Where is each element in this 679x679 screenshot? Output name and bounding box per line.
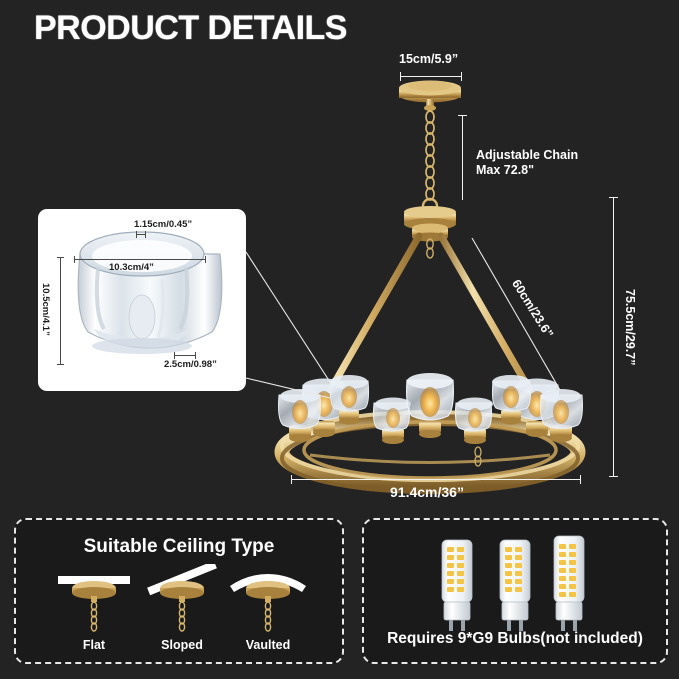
ceiling-panel-heading: Suitable Ceiling Type — [16, 536, 342, 558]
g9-bulb-1 — [442, 540, 472, 631]
inset-dim-base-label: 2.5cm/0.98” — [164, 359, 217, 370]
flat-ceiling-icon — [46, 564, 142, 634]
dim-ring-diameter-line — [291, 479, 581, 480]
product-details-infographic: PRODUCT DETAILS — [0, 0, 679, 679]
suitable-ceiling-type-panel: Suitable Ceiling Type Flat — [14, 518, 344, 664]
required-bulbs-panel: Requires 9*G9 Bulbs(not included) — [362, 518, 668, 664]
g9-bulb-2 — [500, 540, 530, 631]
bulbs-panel-caption: Requires 9*G9 Bulbs(not included) — [364, 630, 666, 648]
suspension-chain — [426, 111, 434, 200]
dim-chain-label-line2: Max 72.8" — [476, 163, 578, 178]
center-finial — [475, 447, 481, 466]
inset-dim-height-line — [60, 257, 61, 365]
dim-chain-label-line1: Adjustable Chain — [476, 148, 578, 163]
inset-dim-width-label: 10.3cm/4” — [109, 262, 154, 273]
inset-dim-top-opening-line — [136, 234, 146, 235]
light-shade-back-center-left — [373, 398, 411, 445]
dim-total-height-label: 75.5cm/29.7” — [622, 289, 637, 365]
dim-chain-line — [462, 115, 463, 200]
upper-hub — [404, 199, 456, 242]
ceiling-type-sloped[interactable]: Sloped — [134, 564, 230, 652]
inset-dim-height-label: 10.5cm/4.1” — [40, 283, 51, 336]
g9-bulbs-illustration — [364, 532, 666, 640]
ceiling-canopy — [399, 81, 461, 112]
ceiling-type-vaulted[interactable]: Vaulted — [220, 564, 316, 652]
light-shade-center — [407, 373, 454, 438]
dim-chain-label: Adjustable Chain Max 72.8" — [476, 148, 578, 179]
g9-bulb-3 — [554, 536, 584, 631]
light-shade-back-center-right — [455, 398, 493, 445]
ceiling-type-vaulted-label: Vaulted — [220, 638, 316, 652]
dim-ring-diameter-label: 91.4cm/36” — [390, 484, 464, 501]
crystal-shade-detail-card: 1.15cm/0.45” 10.3cm/4” 10.5cm/4.1” 2.5cm… — [38, 209, 246, 391]
dim-total-height-line — [613, 197, 614, 477]
leader-line-upper — [246, 252, 330, 382]
vaulted-ceiling-icon — [220, 564, 316, 634]
inset-dim-base-line — [174, 355, 196, 356]
ceiling-type-sloped-label: Sloped — [134, 638, 230, 652]
dim-canopy-width-label: 15cm/5.9” — [399, 52, 458, 67]
inset-dim-width-line — [74, 259, 206, 260]
ceiling-type-flat[interactable]: Flat — [46, 564, 142, 652]
inset-dim-top-opening-label: 1.15cm/0.45” — [134, 219, 192, 230]
dim-canopy-width-line — [400, 76, 462, 77]
ceiling-type-flat-label: Flat — [46, 638, 142, 652]
sloped-ceiling-icon — [134, 564, 230, 634]
